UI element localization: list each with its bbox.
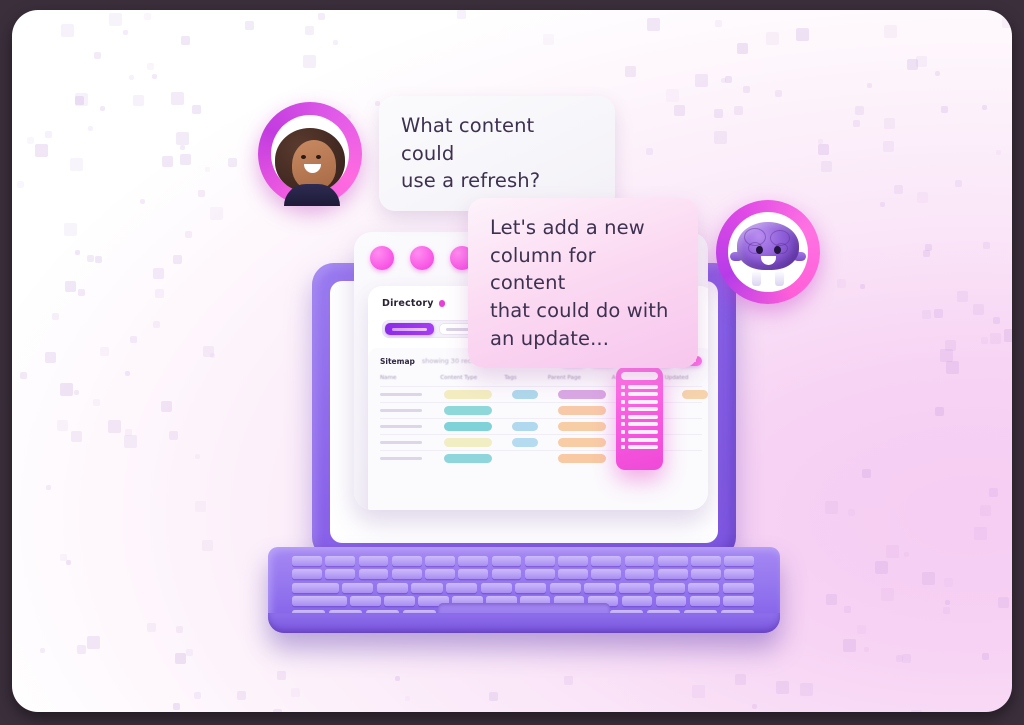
keyboard-key[interactable] [656,596,687,606]
tag-chip [558,454,606,463]
background-pixel [173,703,180,710]
tag-chip [512,390,538,399]
background-pixel [66,560,71,565]
background-pixel [998,597,1009,608]
background-pixel [147,623,156,632]
background-pixel [395,676,400,681]
keyboard-key[interactable] [392,569,422,579]
background-pixel [75,96,84,105]
table-cell [512,438,552,447]
keyboard-key[interactable] [654,583,685,593]
keyboard-key[interactable] [724,569,754,579]
table-cell [380,393,438,396]
table-cell [380,457,438,460]
background-pixel [181,36,190,45]
background-pixel [884,118,895,129]
column-header-3[interactable]: Tags [504,375,541,381]
background-pixel [715,20,722,27]
background-pixel [74,390,79,395]
column-header-4[interactable]: Parent Page [548,375,606,381]
background-pixel [405,696,410,701]
background-pixel [17,181,24,188]
background-pixel [87,636,100,649]
brain-eye-left [756,246,763,254]
background-pixel [198,190,205,197]
background-pixel [152,74,157,79]
keyboard-key[interactable] [658,556,688,566]
table-cell [558,438,620,447]
background-pixel [210,207,223,220]
background-pixel [934,309,943,318]
background-pixel [826,594,837,605]
background-pixel [989,488,998,497]
background-pixel [195,454,200,459]
background-pixel [125,371,130,376]
background-pixel [61,24,74,37]
background-pixel [194,692,201,699]
tag-chip [512,438,538,447]
background-pixel [195,501,206,512]
keyboard-key[interactable] [492,556,522,566]
tag-chip [682,390,708,399]
row-name-value [380,457,422,460]
background-pixel [192,105,201,114]
brain-leg-right [775,271,784,286]
background-pixel [944,578,953,587]
background-pixel [35,144,48,157]
background-pixel [884,25,897,38]
background-pixel [52,313,59,320]
background-pixel [695,74,708,87]
keyboard-key[interactable] [350,596,381,606]
keyboard-key[interactable] [691,556,721,566]
keyboard-key[interactable] [411,583,442,593]
keyboard-key[interactable] [591,556,621,566]
background-pixel [990,333,1001,344]
background-pixel [57,420,68,431]
background-pixel [935,407,944,416]
tag-chip [444,438,492,447]
background-pixel [714,131,727,144]
background-pixel [734,106,743,115]
keyboard-key[interactable] [359,556,389,566]
dropdown-option-label [628,438,658,442]
dropdown-option[interactable] [621,430,658,434]
avatar [258,102,362,206]
background-pixel [922,310,931,319]
table-cell [444,438,506,447]
dropdown-option-label [628,407,658,411]
keyboard-key[interactable] [625,556,655,566]
background-pixel [821,161,832,172]
illustration-card: Directory Sitemap showing 30 records Nam… [12,10,1012,712]
keyboard-key[interactable] [723,596,754,606]
background-pixel [155,289,164,298]
background-pixel [88,126,93,131]
table-cell [558,406,620,415]
keyboard-key[interactable] [558,569,588,579]
keyboard-key[interactable] [515,583,546,593]
background-pixel [625,66,636,77]
background-pixel [896,655,903,662]
tag-chip [558,390,606,399]
background-pixel [735,674,746,685]
background-pixel [855,106,864,115]
background-pixel [974,527,987,540]
background-pixel [202,540,213,551]
keyboard-key[interactable] [658,569,688,579]
background-pixel [737,43,748,54]
avatar-photo [271,115,349,193]
brain-mascot-icon [716,200,820,304]
background-pixel [93,399,100,406]
table-cell [558,390,620,399]
keyboard-key[interactable] [591,569,621,579]
tag-chip [512,422,538,431]
keyboard-key[interactable] [292,583,339,593]
avatar-eye-left [301,155,306,159]
background-pixel [87,255,94,262]
checkbox-icon[interactable] [621,430,625,434]
background-pixel [173,255,182,264]
background-pixel [144,13,151,20]
background-pixel [980,505,991,516]
background-pixel [647,18,660,31]
background-pixel [237,691,246,700]
table-cell [558,422,620,431]
keyboard-key[interactable] [525,556,555,566]
background-pixel [457,10,466,19]
column-picker-dropdown[interactable] [616,367,663,470]
checkbox-icon[interactable] [621,407,625,411]
background-pixel [860,284,865,289]
background-pixel [100,347,109,356]
tag-chip [444,390,492,399]
background-pixel [64,223,77,236]
background-pixel [867,83,872,88]
background-pixel [844,606,851,613]
background-pixel [40,648,45,653]
keyboard-key[interactable] [292,569,322,579]
checkbox-icon[interactable] [621,422,625,426]
background-pixel [176,626,183,633]
background-pixel [123,30,128,35]
keyboard-key[interactable] [325,569,355,579]
background-pixel [130,336,137,343]
background-pixel [109,13,122,26]
background-pixel [875,561,888,574]
background-pixel [983,242,990,249]
background-pixel [94,52,101,59]
background-pixel [857,625,866,634]
dropdown-option-label [628,430,658,434]
table-cell [444,390,506,399]
background-pixel [946,361,959,374]
background-pixel [674,105,685,116]
keyboard-key[interactable] [377,583,408,593]
keyboard-key[interactable] [690,596,721,606]
keyboard-key[interactable] [342,583,373,593]
checkbox-icon[interactable] [621,392,625,396]
background-pixel [108,420,121,433]
row-name-value [380,441,422,444]
background-pixel [564,676,573,685]
table-cell [512,390,552,399]
background-pixel [907,59,918,70]
background-pixel [902,654,911,663]
background-pixel [124,435,137,448]
background-pixel [796,28,809,41]
keyboard-key[interactable] [723,583,754,593]
background-pixel [941,106,948,113]
keyboard-key[interactable] [458,569,488,579]
background-pixel [27,137,34,144]
background-pixel [776,681,789,694]
background-pixel [864,647,869,652]
dropdown-option[interactable] [621,422,658,426]
checkbox-icon[interactable] [621,385,625,389]
column-header-1[interactable]: Name [380,375,434,381]
background-pixel [957,291,968,302]
background-pixel [692,685,705,698]
avatar-eye-right [316,155,321,159]
background-pixel [46,485,51,490]
dropdown-option[interactable] [621,392,658,396]
background-pixel [45,131,52,138]
dropdown-search-input[interactable] [621,372,658,380]
window-controls[interactable] [370,246,474,270]
panel-title-text: Directory [382,298,434,309]
dropdown-option-label [628,392,658,396]
keyboard-key[interactable] [292,596,347,606]
background-pixel [837,279,846,288]
tag-chip [558,438,606,447]
background-pixel [186,649,193,656]
table-cell [444,406,506,415]
background-pixel [973,304,984,315]
background-pixel [714,109,723,118]
dropdown-option-label [628,400,658,404]
background-pixel [917,192,928,203]
background-pixel [147,63,154,70]
keyboard-key[interactable] [446,583,477,593]
keyboard-row[interactable] [292,583,754,593]
background-pixel [71,431,82,442]
dropdown-option-list[interactable] [621,385,658,450]
background-pixel [205,167,210,172]
brain-leg-left [752,271,761,286]
checkbox-icon[interactable] [621,415,625,419]
keyboard-key[interactable] [292,556,322,566]
background-pixel [880,202,885,207]
keyboard-key[interactable] [691,569,721,579]
keyboard-key[interactable] [724,556,754,566]
checkbox-icon[interactable] [621,400,625,404]
tab-active[interactable] [385,323,434,335]
background-pixel [1002,17,1012,28]
keyboard-key[interactable] [384,596,415,606]
keyboard-key[interactable] [525,569,555,579]
table-cell [444,422,506,431]
brain-eye-right [774,246,781,254]
tag-chip [558,422,606,431]
keyboard-key[interactable] [558,556,588,566]
background-pixel [210,353,215,358]
background-pixel [318,13,325,20]
background-pixel [945,600,950,605]
background-pixel [993,317,1000,324]
keyboard-key[interactable] [392,556,422,566]
row-name-value [380,409,422,412]
background-pixel [153,321,160,328]
background-pixel [175,653,186,664]
background-pixel [935,71,940,76]
dropdown-option[interactable] [621,407,658,411]
background-pixel [169,431,178,440]
background-pixel [543,34,554,45]
background-pixel [277,671,286,680]
window-dot-2[interactable] [410,246,434,270]
keyboard-key[interactable] [425,556,455,566]
row-name-value [380,425,422,428]
dropdown-option[interactable] [621,438,658,442]
question-bubble: What content could use a refresh? [379,96,615,211]
tag-chip [444,454,492,463]
background-pixel [100,106,105,111]
background-pixel [45,352,56,363]
background-pixel [140,199,145,204]
background-pixel [911,710,922,712]
column-header-2[interactable]: Content Type [440,375,498,381]
background-pixel [982,105,987,110]
keyboard-key[interactable] [492,569,522,579]
background-pixel [743,86,750,93]
background-pixel [862,469,871,478]
column-header-6[interactable]: Updated [665,375,702,381]
background-pixel [853,120,860,127]
keyboard-key[interactable] [359,569,389,579]
background-pixel [78,289,85,296]
table-cell [380,425,438,428]
tag-chip [444,422,492,431]
background-pixel [180,154,191,165]
dropdown-option[interactable] [621,415,658,419]
background-pixel [489,692,498,701]
keyboard-key[interactable] [619,583,650,593]
answer-bubble: Let's add a new column for content that … [468,198,698,368]
dropdown-option-label [628,385,658,389]
background-pixel [982,653,989,660]
background-pixel [922,572,935,585]
background-pixel [162,156,173,167]
table-cell [682,390,708,399]
background-pixel [825,501,838,514]
background-pixel [955,180,962,187]
table-heading: Sitemap [380,357,415,366]
background-pixel [923,250,930,257]
tag-chip [558,406,606,415]
background-pixel [843,639,856,652]
background-pixel [981,337,988,344]
background-pixel [303,55,316,68]
laptop-base-front [268,613,780,633]
checkbox-icon[interactable] [621,438,625,442]
background-pixel [228,158,237,167]
keyboard-key[interactable] [481,583,512,593]
table-cell [444,454,506,463]
keyboard-key[interactable] [625,569,655,579]
background-pixel [133,95,144,106]
background-pixel [60,383,73,396]
background-pixel [766,32,779,45]
background-pixel [725,76,732,83]
dropdown-option[interactable] [621,400,658,404]
background-pixel [1004,329,1012,342]
background-pixel [245,21,254,30]
background-pixel [666,89,679,102]
dropdown-option[interactable] [621,385,658,389]
background-pixel [752,704,757,709]
background-pixel [291,688,300,697]
background-pixel [176,132,189,145]
keyboard-row[interactable] [292,569,754,579]
table-cell [380,441,438,444]
background-pixel [886,545,899,558]
background-pixel [996,150,1001,155]
background-pixel [333,40,338,45]
brain-mascot-inner [728,212,808,292]
background-pixel [943,607,950,614]
keyboard-key[interactable] [425,569,455,579]
background-pixel [171,92,184,105]
background-pixel [180,145,185,150]
background-pixel [940,349,953,362]
keyboard-row[interactable] [292,556,754,566]
background-pixel [95,256,102,263]
background-pixel [800,683,813,696]
background-pixel [904,552,909,557]
background-pixel [75,250,80,255]
background-pixel [161,401,172,412]
keyboard-key[interactable] [622,596,653,606]
dropdown-option-label [628,445,658,449]
table-cell [512,422,552,431]
tag-chip [444,406,492,415]
table-cell [380,409,438,412]
background-pixel [883,141,894,152]
background-pixel [153,268,164,279]
dropdown-option-label [628,422,658,426]
background-pixel [818,139,823,144]
dropdown-option-label [628,415,658,419]
laptop-base [268,547,780,633]
background-pixel [305,26,314,35]
window-dot-1[interactable] [370,246,394,270]
background-pixel [775,90,782,97]
checkbox-icon[interactable] [621,445,625,449]
dropdown-option[interactable] [621,445,658,449]
keyboard-key[interactable] [584,583,615,593]
keyboard-key[interactable] [550,583,581,593]
table-cell [558,454,620,463]
keyboard-key[interactable] [325,556,355,566]
background-pixel [185,231,192,238]
keyboard-key[interactable] [458,556,488,566]
background-pixel [818,144,829,155]
background-pixel [848,509,855,516]
background-pixel [129,75,134,80]
keyboard-key[interactable] [688,583,719,593]
